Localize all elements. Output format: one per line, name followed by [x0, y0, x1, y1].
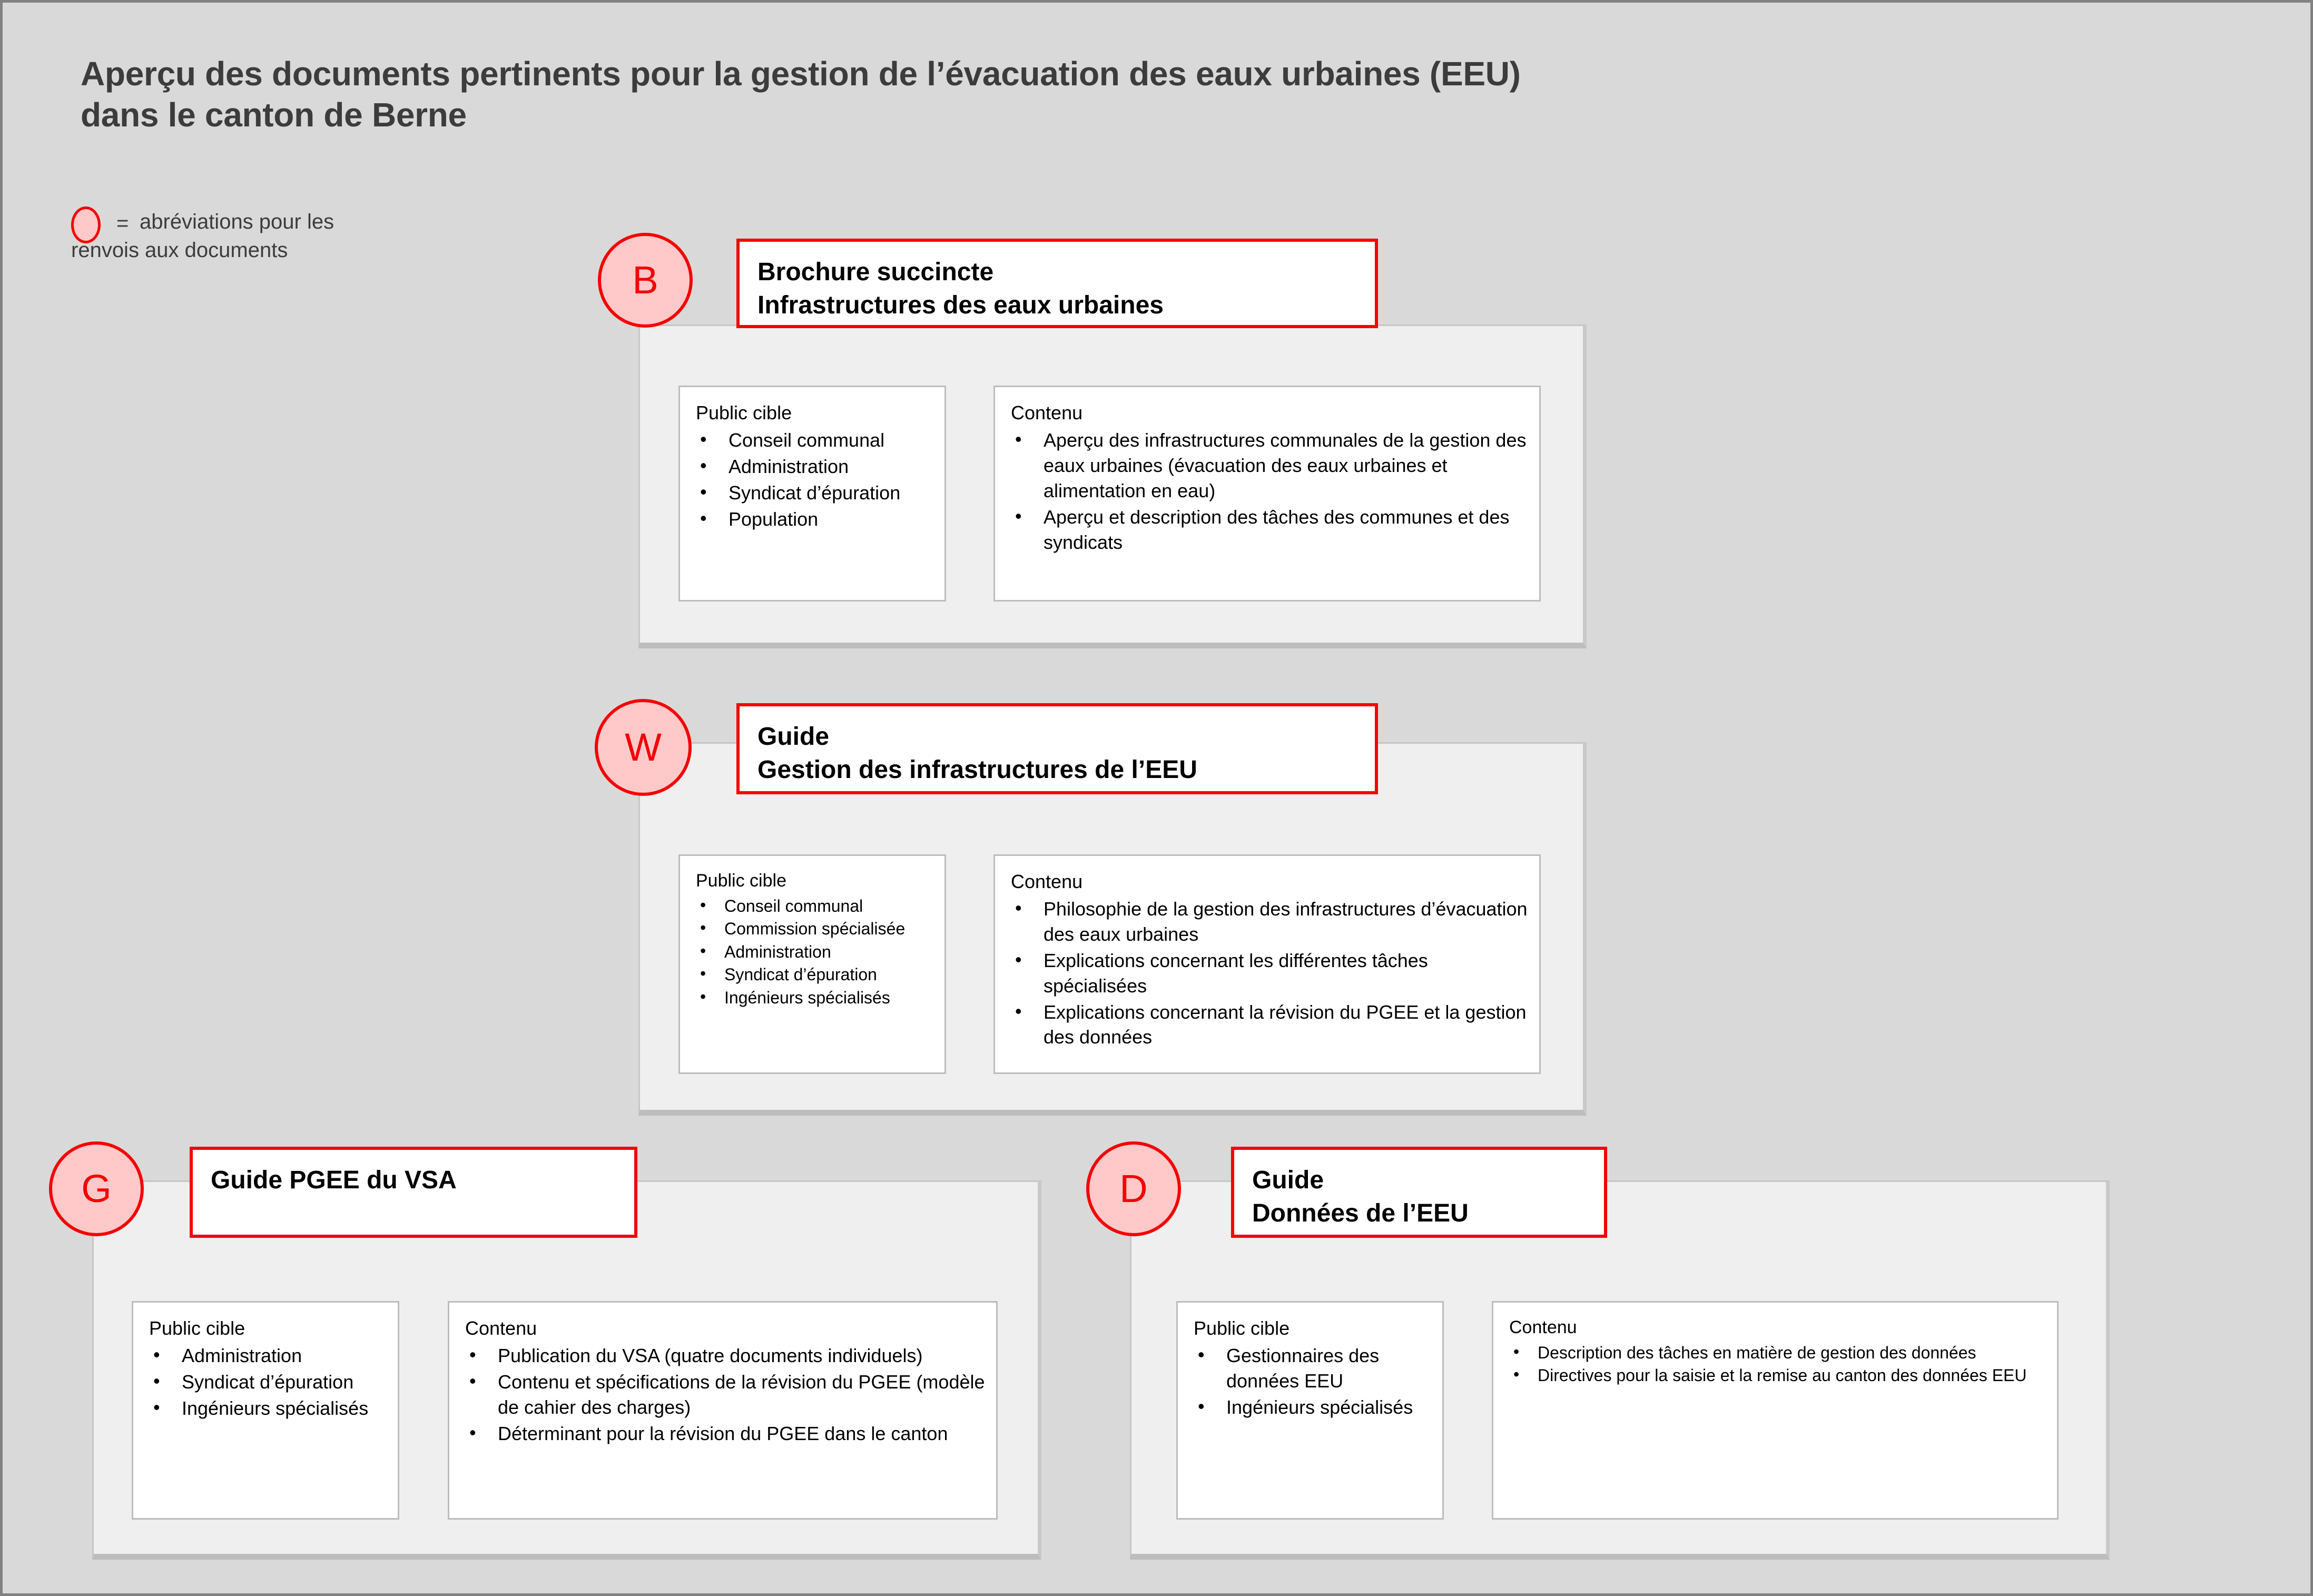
list-item: Conseil communal	[696, 428, 936, 453]
abbreviation-circle-d[interactable]: D	[1086, 1141, 1181, 1236]
list-item: Philosophie de la gestion des infrastruc…	[1011, 896, 1531, 947]
legend-text-line2: renvois aux documents	[71, 238, 461, 262]
document-title-box-w: Guide Gestion des infrastructures de l’E…	[736, 703, 1378, 794]
document-title-b-line2: Infrastructures des eaux urbaines	[757, 289, 1375, 322]
content-list-g: Publication du VSA (quatre documents ind…	[465, 1343, 988, 1446]
list-item: Ingénieurs spécialisés	[149, 1396, 389, 1421]
list-item: Contenu et spécifications de la révision…	[465, 1370, 988, 1420]
audience-card-d: Public cible Gestionnaires des données E…	[1176, 1301, 1444, 1520]
list-item: Explications concernant la révision du P…	[1011, 1000, 1531, 1050]
list-item: Publication du VSA (quatre documents ind…	[465, 1343, 988, 1368]
content-header-b: Contenu	[1011, 401, 1531, 425]
list-item: Population	[696, 507, 936, 532]
list-item: Directives pour la saisie et la remise a…	[1509, 1365, 2049, 1387]
abbreviation-letter-g: G	[81, 1169, 112, 1208]
abbreviation-letter-d: D	[1119, 1169, 1147, 1208]
list-item: Administration	[696, 941, 936, 963]
list-item: Aperçu des infrastructures communales de…	[1011, 428, 1531, 504]
document-title-d-line1: Guide	[1252, 1164, 1604, 1197]
diagram-canvas: Aperçu des documents pertinents pour la …	[0, 0, 2313, 1596]
list-item: Commission spécialisée	[696, 918, 936, 940]
content-header-g: Contenu	[465, 1316, 988, 1340]
abbreviation-circle-b[interactable]: B	[598, 233, 693, 328]
abbreviation-letter-w: W	[625, 728, 662, 767]
content-list-b: Aperçu des infrastructures communales de…	[1011, 428, 1531, 555]
document-title-b-line1: Brochure succincte	[757, 255, 1375, 289]
content-list-d: Description des tâches en matière de ges…	[1509, 1342, 2049, 1387]
audience-card-b: Public cible Conseil communal Administra…	[678, 386, 946, 602]
document-title-box-g: Guide PGEE du VSA	[190, 1147, 637, 1238]
legend-text-line1: abréviations pour les	[140, 210, 466, 234]
list-item: Syndicat d’épuration	[149, 1370, 389, 1395]
audience-header-w: Public cible	[696, 870, 936, 892]
audience-list-b: Conseil communal Administration Syndicat…	[696, 428, 936, 532]
audience-list-w: Conseil communal Commission spécialisée …	[696, 895, 936, 1009]
content-card-b: Contenu Aperçu des infrastructures commu…	[993, 386, 1541, 602]
document-title-box-b: Brochure succincte Infrastructures des e…	[736, 239, 1378, 328]
content-header-d: Contenu	[1509, 1316, 2049, 1339]
abbreviation-letter-b: B	[632, 261, 658, 300]
abbreviation-circle-w[interactable]: W	[595, 699, 692, 796]
content-list-w: Philosophie de la gestion des infrastruc…	[1011, 896, 1531, 1050]
audience-header-b: Public cible	[696, 401, 936, 425]
list-item: Explications concernant les différentes …	[1011, 948, 1531, 999]
list-item: Aperçu et description des tâches des com…	[1011, 505, 1531, 555]
content-card-w: Contenu Philosophie de la gestion des in…	[993, 854, 1541, 1074]
abbreviation-circle-g[interactable]: G	[49, 1141, 144, 1236]
audience-header-g: Public cible	[149, 1316, 389, 1340]
list-item: Gestionnaires des données EEU	[1194, 1343, 1434, 1394]
page-title-line2: dans le canton de Berne	[81, 94, 1924, 135]
list-item: Conseil communal	[696, 895, 936, 918]
content-card-d: Contenu Description des tâches en matièr…	[1492, 1301, 2059, 1520]
audience-list-d: Gestionnaires des données EEU Ingénieurs…	[1194, 1343, 1434, 1420]
list-item: Ingénieurs spécialisés	[1194, 1395, 1434, 1420]
content-header-w: Contenu	[1011, 870, 1531, 893]
document-title-w-line1: Guide	[757, 720, 1375, 753]
audience-list-g: Administration Syndicat d’épuration Ingé…	[149, 1343, 389, 1421]
audience-card-w: Public cible Conseil communal Commission…	[678, 854, 946, 1074]
page-title-line1: Aperçu des documents pertinents pour la …	[81, 53, 1924, 94]
document-title-w-line2: Gestion des infrastructures de l’EEU	[757, 753, 1375, 786]
list-item: Déterminant pour la révision du PGEE dan…	[465, 1421, 988, 1446]
document-title-d-line2: Données de l’EEU	[1252, 1197, 1604, 1230]
legend-equals-sign: =	[116, 212, 129, 235]
document-title-g-line1: Guide PGEE du VSA	[211, 1164, 634, 1197]
list-item: Ingénieurs spécialisés	[696, 987, 936, 1009]
audience-header-d: Public cible	[1194, 1316, 1434, 1340]
list-item: Administration	[149, 1343, 389, 1368]
list-item: Description des tâches en matière de ges…	[1509, 1342, 2049, 1364]
document-title-box-d: Guide Données de l’EEU	[1231, 1147, 1607, 1238]
list-item: Syndicat d’épuration	[696, 964, 936, 986]
list-item: Administration	[696, 454, 936, 479]
audience-card-g: Public cible Administration Syndicat d’é…	[132, 1301, 399, 1520]
list-item: Syndicat d’épuration	[696, 480, 936, 506]
content-card-g: Contenu Publication du VSA (quatre docum…	[448, 1301, 998, 1520]
page-title: Aperçu des documents pertinents pour la …	[81, 53, 1924, 135]
